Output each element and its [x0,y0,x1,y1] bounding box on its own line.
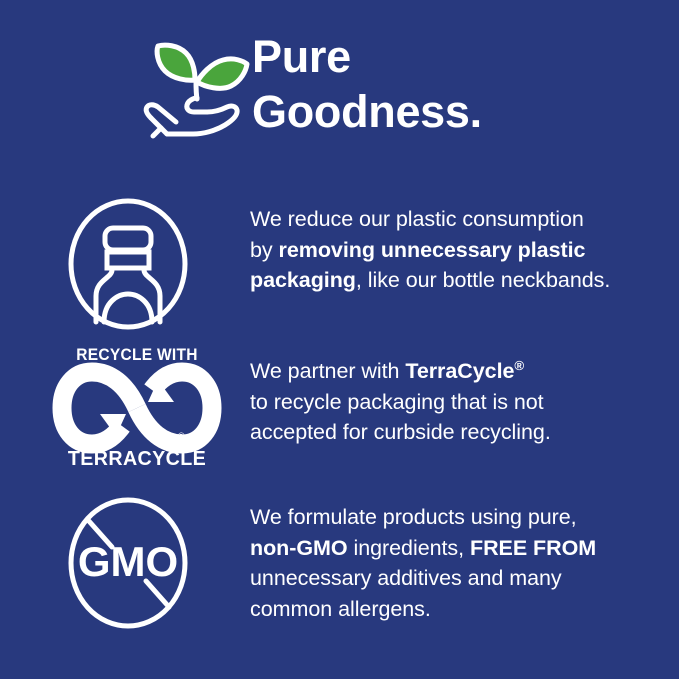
benefit-line: to recycle packaging that is not [250,387,670,418]
benefit-line: by removing unnecessary plastic [250,235,670,266]
terracycle-logo-top-label: RECYCLE WITH [63,346,212,365]
benefit-line: We reduce our plastic consumption [250,204,670,235]
page-title-line-1: Pure [252,30,652,85]
benefit-text-gmo: We formulate products using pure,non-GMO… [250,502,670,624]
benefit-row-gmo: GMO We formulate products using pure,non… [0,494,679,644]
no-gmo-label: GMO [78,538,178,585]
benefit-line: We partner with TerraCycle® [250,356,670,387]
pure-goodness-infographic: Pure Goodness. We reduce our plastic con… [0,0,679,679]
benefit-text-terracycle: We partner with TerraCycle®to recycle pa… [250,356,670,448]
benefit-row-terracycle: RECYCLE WITH ® TERRACYCLE [0,340,679,485]
benefit-row-plastic: We reduce our plastic consumptionby remo… [0,186,679,336]
benefit-line: packaging, like our bottle neckbands. [250,265,670,296]
benefit-line: common allergens. [250,594,670,625]
recycle-infinity-loop-icon [58,370,216,446]
page-title: Pure Goodness. [252,30,652,140]
header: Pure Goodness. [0,30,679,155]
benefit-line: unnecessary additives and many [250,563,670,594]
hand-holding-sprout-icon [143,35,255,145]
page-title-line-2: Goodness. [252,85,652,140]
benefit-line: We formulate products using pure, [250,502,670,533]
benefit-text-plastic: We reduce our plastic consumptionby remo… [250,204,670,296]
benefit-line: accepted for curbside recycling. [250,417,670,448]
terracycle-logo-bottom-label: TERRACYCLE [61,447,213,471]
bottle-neckband-circle-icon [62,194,212,334]
benefit-line: non-GMO ingredients, FREE FROM [250,533,670,564]
registered-trademark-icon: ® [178,432,185,441]
terracycle-logo: RECYCLE WITH ® TERRACYCLE [58,346,216,476]
no-gmo-circle-icon: GMO [62,496,212,636]
